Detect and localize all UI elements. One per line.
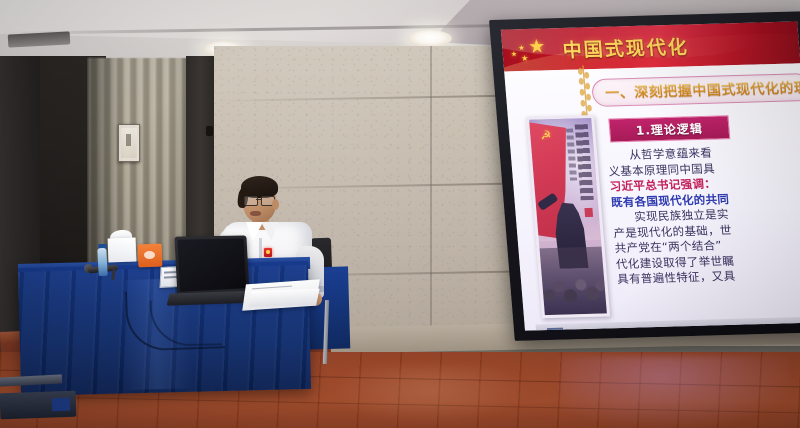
water-bottle: [97, 248, 107, 276]
small-star-icon: ★: [511, 51, 518, 58]
cup-logo-icon: [144, 251, 155, 259]
slide-title: 中国式现代化: [562, 32, 690, 62]
poster-seal-icon: [584, 208, 593, 217]
floor-light-reflection: [330, 366, 530, 426]
poster-crowd: [540, 247, 607, 315]
projection-screen[interactable]: ★ ★ ★ ★ 中国式现代化: [489, 11, 800, 355]
small-star-icon: ★: [521, 55, 529, 63]
wall-seam-vertical: [430, 46, 432, 346]
small-star-icon: ★: [518, 45, 525, 52]
subheading-text: 1.理论逻辑: [635, 119, 703, 138]
poster-artwork: ☭: [529, 118, 607, 315]
pillar-fixture-icon: [206, 126, 213, 136]
framed-wall-art: [118, 124, 140, 162]
tissue-box: [108, 238, 137, 263]
section-heading-box: 一、深刻把握中国式现代化的理: [591, 73, 800, 107]
slide-body-text: 从哲学意蕴来看义基本原理同中国具习近平总书记强调：既有各国现代化的共同实现民族独…: [607, 143, 800, 288]
big-star-icon: ★: [528, 37, 547, 56]
slide-poster-image: ☭: [526, 115, 610, 318]
floor-equipment-marker: [52, 398, 70, 412]
glasses-icon: [244, 196, 275, 204]
party-badge-icon: [264, 248, 272, 257]
hammer-sickle-icon: ☭: [540, 129, 552, 141]
downlight-icon: [408, 30, 452, 47]
section-heading-text: 一、深刻把握中国式现代化的理: [604, 77, 800, 103]
documents-sheet: [248, 289, 319, 308]
subheading-box: 1.理论逻辑: [608, 115, 730, 142]
presenter-mouth: [250, 211, 261, 216]
slide-body: 一、深刻把握中国式现代化的理 ☭: [504, 63, 800, 330]
floor-screen-reflection: [560, 356, 790, 426]
slide-surface: ★ ★ ★ ★ 中国式现代化: [501, 21, 800, 330]
presenter-ear: [272, 199, 279, 210]
lecture-room-photo: ★ ★ ★ ★ 中国式现代化: [0, 0, 800, 428]
art-calligraphy-mark: [126, 134, 131, 146]
